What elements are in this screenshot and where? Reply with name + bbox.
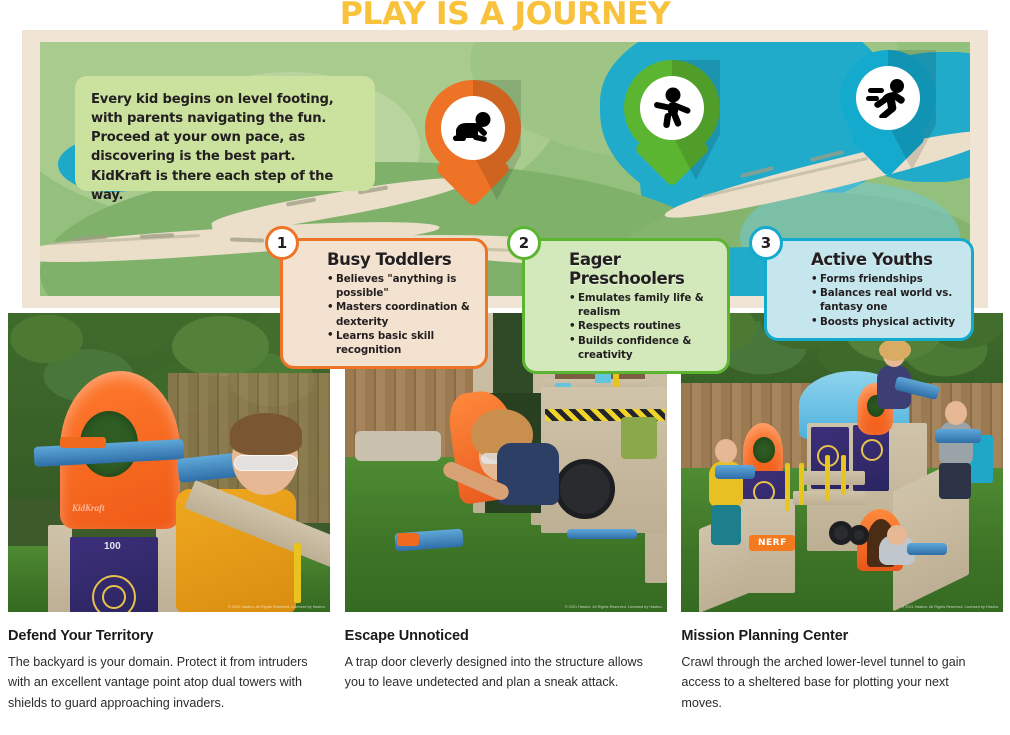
walking-toddler-icon [640,76,704,140]
nerf-dart [567,529,637,539]
stage-bullet-list: Believes "anything is possible" Masters … [327,272,473,357]
stage-bullet: Emulates family life & realism [569,291,715,319]
nerf-blaster [935,429,981,443]
nerf-blaster [907,543,947,555]
stage-card-eager-preschoolers: 2 Eager Preschoolers Emulates family lif… [522,238,730,374]
feature-card-defend-your-territory: 100 KidKraft © 2021 Hasbro. All Rights R… [8,313,337,713]
feature-card-mission-planning-center: NERF [681,313,1010,713]
stage-card-active-youths: 3 Active Youths Forms friendships Balanc… [764,238,974,341]
stage-title: Active Youths [811,250,959,269]
nerf-blaster [715,465,755,479]
jerry-can [621,417,657,459]
infographic-panel: Every kid begins on level footing, with … [22,30,988,308]
stage-bullet: Boosts physical activity [811,315,959,329]
adult-shorts [939,463,971,499]
feature-description: The backyard is your domain. Protect it … [8,652,314,713]
feature-title: Mission Planning Center [681,628,1010,644]
intro-text: Every kid begins on level footing, with … [91,90,359,205]
stage-title: Busy Toddlers [327,250,473,269]
map-pin-active-youths[interactable] [840,50,936,174]
stage-bullet-list: Emulates family life & realism Respects … [569,291,715,362]
crawling-baby-icon [441,96,505,160]
stage-bullet: Believes "anything is possible" [327,272,473,300]
stage-title: Eager Preschoolers [569,250,715,288]
blaster-accent [397,533,419,546]
stage-number-badge: 2 [507,226,541,260]
tire [555,459,615,519]
child-hair [230,413,302,455]
safety-goggles [234,455,298,471]
rope [799,463,804,505]
stage-bullet: Respects routines [569,319,715,333]
stage-card-busy-toddlers: 1 Busy Toddlers Believes "anything is po… [280,238,488,369]
rope [294,543,301,603]
stage-bullet: Learns basic skill recognition [327,329,473,357]
blaster-accent [60,437,106,448]
map-pin-busy-toddlers[interactable] [425,80,521,204]
target-score: 100 [104,541,121,552]
stage-bullet: Masters coordination & dexterity [327,300,473,328]
child-shorts [711,505,741,545]
step [801,471,865,485]
running-youth-icon [856,66,920,130]
stage-number-badge: 1 [265,226,299,260]
adult-shirt [939,421,973,465]
feature-row: 100 KidKraft © 2021 Hasbro. All Rights R… [0,313,1010,713]
post [48,525,72,612]
stage-bullet: Forms friendships [811,272,959,286]
photo-watermark: © 2021 Hasbro. All Rights Reserved. Lice… [228,605,326,609]
intro-callout: Every kid begins on level footing, with … [75,76,375,191]
feature-description: Crawl through the arched lower-level tun… [681,652,987,713]
rope [785,463,790,511]
feature-title: Defend Your Territory [8,628,337,644]
stage-number-badge: 3 [749,226,783,260]
stone-border [355,431,441,461]
photo-watermark: © 2021 Hasbro. All Rights Reserved. Lice… [565,605,663,609]
stage-bullet-list: Forms friendships Balances real world vs… [811,272,959,329]
nerf-logo: NERF [749,535,795,551]
feature-title: Escape Unnoticed [345,628,674,644]
map-pin-eager-preschoolers[interactable] [624,60,720,184]
target-ring [102,585,126,609]
rope [825,455,830,501]
rope [841,455,846,495]
page-title-bar: PLAY IS A JOURNEY [0,0,1010,30]
stage-bullet: Balances real world vs. fantasy one [811,286,959,314]
kidkraft-brand-mark: KidKraft [72,503,105,513]
page-title: PLAY IS A JOURNEY [340,0,671,30]
photo-watermark: © 2021 Hasbro. All Rights Reserved. Lice… [902,605,1000,609]
stage-bullet: Builds confidence & creativity [569,334,715,362]
feature-description: A trap door cleverly designed into the s… [345,652,651,693]
